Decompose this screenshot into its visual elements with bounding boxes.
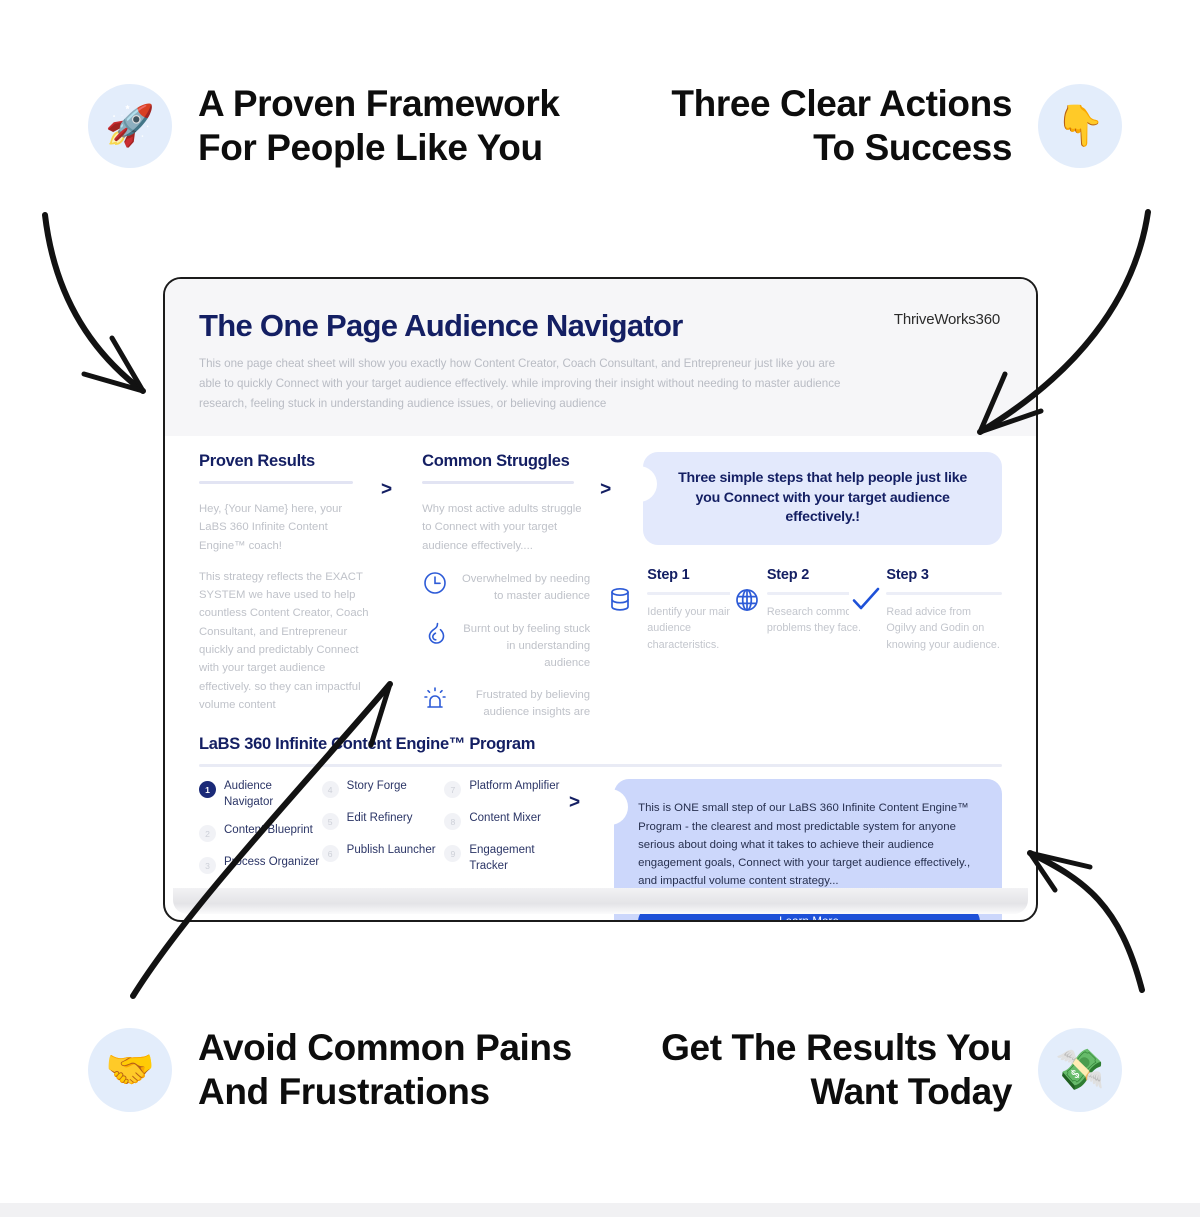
laptop-device-frame: The One Page Audience Navigator ThriveWo… <box>163 277 1038 922</box>
step-label: Step 2 <box>767 567 883 583</box>
program-item-number: 8 <box>444 813 461 830</box>
program-grid: 1 Audience Navigator 2 Content Blueprint… <box>199 779 567 887</box>
siren-icon <box>422 686 448 712</box>
corner-title-top-left: A Proven Framework For People Like You <box>198 82 560 169</box>
program-item[interactable]: 5 Edit Refinery <box>322 811 445 830</box>
step-divider <box>886 592 1002 595</box>
rocket-emoji: 🚀 <box>88 84 172 168</box>
corner-callout-bottom-left: 🤝 Avoid Common Pains And Frustrations <box>88 1026 572 1113</box>
program-item-number: 7 <box>444 781 461 798</box>
program-item[interactable]: 1 Audience Navigator <box>199 779 322 810</box>
corner-title-bottom-left: Avoid Common Pains And Frustrations <box>198 1026 572 1113</box>
proven-results-column: Proven Results Hey, {Your Name} here, yo… <box>199 452 369 714</box>
program-item[interactable]: 6 Publish Launcher <box>322 843 445 862</box>
steps-timeline: Step 1 Identify your main audience chara… <box>643 567 1002 654</box>
program-item-label: Edit Refinery <box>347 811 413 826</box>
program-column-1: 1 Audience Navigator 2 Content Blueprint… <box>199 779 322 887</box>
program-divider <box>199 764 1002 767</box>
steps-column: Three simple steps that help people just… <box>643 452 1002 654</box>
chevron-separator-2: > <box>600 452 611 499</box>
program-heading: LaBS 360 Infinite Content Engine™ Progra… <box>199 735 1002 754</box>
sheet-header: The One Page Audience Navigator ThriveWo… <box>165 279 1036 436</box>
struggle-text: Overwhelmed by needing to master audienc… <box>458 570 590 605</box>
handshake-emoji: 🤝 <box>88 1028 172 1112</box>
cta-text: This is ONE small step of our LaBS 360 I… <box>638 799 980 890</box>
struggle-text: Frustrated by believing audience insight… <box>458 686 590 721</box>
sheet-body: Proven Results Hey, {Your Name} here, yo… <box>165 436 1036 922</box>
cta-notch <box>602 789 628 825</box>
program-item-number: 9 <box>444 845 461 862</box>
program-item[interactable]: 8 Content Mixer <box>444 811 567 830</box>
program-item-label: Process Organizer <box>224 855 319 870</box>
corner-callout-bottom-right: Get The Results You Want Today 💸 <box>661 1026 1122 1113</box>
program-column-2: 4 Story Forge 5 Edit Refinery 6 Publish … <box>322 779 445 887</box>
brand-label: ThriveWorks360 <box>894 311 1000 328</box>
clock-icon <box>422 570 448 596</box>
steps-callout: Three simple steps that help people just… <box>643 452 1002 545</box>
program-item-number: 1 <box>199 781 216 798</box>
program-item-label: Audience Navigator <box>224 779 322 810</box>
page-bottom-strip <box>0 1203 1200 1217</box>
program-item[interactable]: 7 Platform Amplifier <box>444 779 567 798</box>
struggle-item: Burnt out by feeling stuck in understand… <box>422 620 590 672</box>
program-item[interactable]: 2 Content Blueprint <box>199 823 322 842</box>
corner-title-bottom-right: Get The Results You Want Today <box>661 1026 1012 1113</box>
pointing-down-emoji: 👇 <box>1038 84 1122 168</box>
program-item-label: Platform Amplifier <box>469 779 559 794</box>
program-item-number: 5 <box>322 813 339 830</box>
struggle-text: Burnt out by feeling stuck in understand… <box>458 620 590 672</box>
program-item[interactable]: 9 Engagement Tracker <box>444 843 567 874</box>
program-item-number: 4 <box>322 781 339 798</box>
program-item-label: Content Blueprint <box>224 823 313 838</box>
arrow-top-left <box>45 215 143 391</box>
corner-title-top-right: Three Clear Actions To Success <box>671 82 1012 169</box>
step-label: Step 3 <box>886 567 1002 583</box>
top-columns-row: Proven Results Hey, {Your Name} here, yo… <box>199 452 1002 721</box>
device-base-bar <box>173 888 1028 914</box>
program-item-label: Content Mixer <box>469 811 541 826</box>
program-column-3: 7 Platform Amplifier 8 Content Mixer 9 E… <box>444 779 567 887</box>
step-label: Step 1 <box>647 567 763 583</box>
proven-results-paragraph-2: This strategy reflects the EXACT SYSTEM … <box>199 568 369 714</box>
program-item-label: Publish Launcher <box>347 843 436 858</box>
flame-icon <box>422 620 448 646</box>
checkmark-icon <box>849 583 883 617</box>
struggle-item: Frustrated by believing audience insight… <box>422 686 590 721</box>
callout-notch <box>631 466 657 502</box>
sheet-subtitle: This one page cheat sheet will show you … <box>199 354 859 414</box>
common-struggles-column: Common Struggles Why most active adults … <box>422 452 590 721</box>
program-item-number: 3 <box>199 857 216 874</box>
common-struggles-intro: Why most active adults struggle to Conne… <box>422 500 590 555</box>
chevron-separator-1: > <box>381 452 392 499</box>
proven-results-paragraph-1: Hey, {Your Name} here, your LaBS 360 Inf… <box>199 500 369 555</box>
struggle-item: Overwhelmed by needing to master audienc… <box>422 570 590 605</box>
program-item[interactable]: 4 Story Forge <box>322 779 445 798</box>
common-struggles-divider <box>422 481 574 484</box>
chevron-separator-3: > <box>569 779 580 812</box>
money-with-wings-emoji: 💸 <box>1038 1028 1122 1112</box>
steps-callout-text: Three simple steps that help people just… <box>669 469 976 528</box>
poster-stage: 🚀 A Proven Framework For People Like You… <box>0 0 1200 1217</box>
step-description: Read advice from Ogilvy and Godin on kno… <box>886 604 1002 654</box>
device-screen: The One Page Audience Navigator ThriveWo… <box>163 277 1038 922</box>
common-struggles-heading: Common Struggles <box>422 452 590 471</box>
proven-results-divider <box>199 481 353 484</box>
program-item-number: 6 <box>322 845 339 862</box>
program-item[interactable]: 3 Process Organizer <box>199 855 322 874</box>
program-item-number: 2 <box>199 825 216 842</box>
step-item-3: Step 3 Read advice from Ogilvy and Godin… <box>882 567 1002 654</box>
proven-results-heading: Proven Results <box>199 452 369 471</box>
program-item-label: Story Forge <box>347 779 407 794</box>
corner-callout-top-right: Three Clear Actions To Success 👇 <box>671 82 1122 169</box>
arrow-bottom-right <box>1030 853 1142 990</box>
globe-icon <box>730 583 764 617</box>
corner-callout-top-left: 🚀 A Proven Framework For People Like You <box>88 82 560 169</box>
page-title: The One Page Audience Navigator <box>199 309 1002 343</box>
program-item-label: Engagement Tracker <box>469 843 567 874</box>
database-icon <box>603 583 637 617</box>
